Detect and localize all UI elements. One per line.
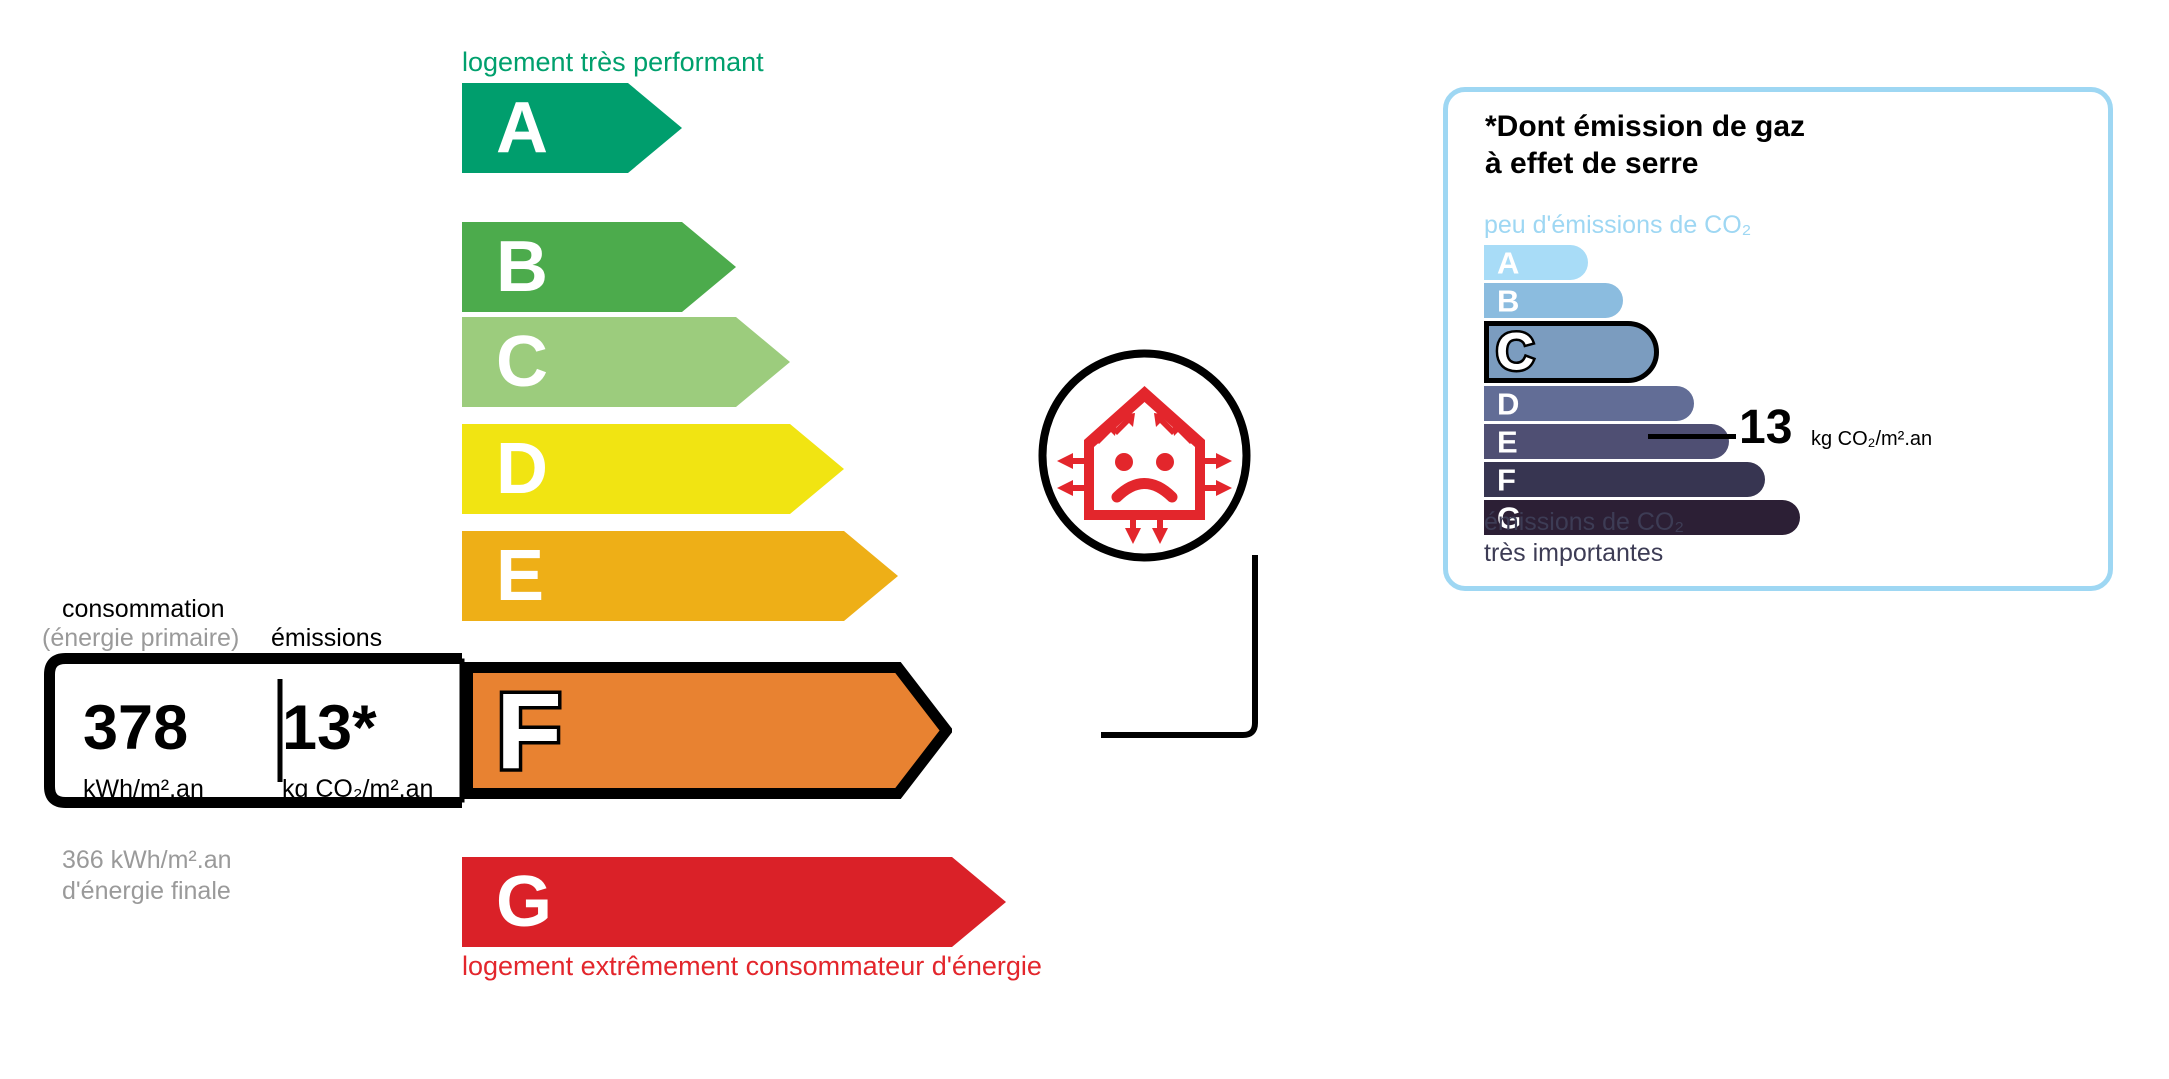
energy-letter-c: C — [496, 326, 548, 398]
co2-letter-d: D — [1497, 388, 1519, 419]
co2-row-d[interactable]: D — [1484, 386, 1694, 421]
energy-top-caption: logement très performant — [462, 47, 764, 78]
final-energy-footer: 366 kWh/m².an d'énergie finale — [62, 845, 232, 906]
energy-row-g[interactable]: G — [462, 857, 1006, 947]
energy-letter-g: G — [496, 866, 552, 938]
emissions-label: émissions — [271, 624, 382, 653]
energy-bottom-caption: logement extrêmement consommateur d'éner… — [462, 951, 1042, 982]
energy-performance-chart: logement très performant A B C D E F G c… — [0, 0, 1300, 1079]
co2-row-c-selected[interactable]: C — [1484, 321, 1659, 383]
co2-letter-c: C — [1496, 326, 1534, 379]
energy-row-e[interactable]: E — [462, 531, 898, 621]
co2-title-line1: *Dont émission de gaz — [1485, 109, 1805, 146]
energy-letter-b: B — [496, 231, 548, 303]
energy-letter-a: A — [496, 92, 548, 164]
co2-bottom-caption: émissions de CO₂ très importantes — [1484, 507, 1684, 568]
energy-row-a[interactable]: A — [462, 83, 682, 173]
sad-house-heat-loss-icon — [1037, 348, 1252, 563]
co2-letter-b: B — [1497, 285, 1519, 316]
co2-letter-a: A — [1497, 247, 1519, 278]
co2-panel-title: *Dont émission de gaz à effet de serre — [1485, 109, 1805, 182]
co2-bar-e — [1484, 424, 1729, 459]
co2-title-line2: à effet de serre — [1485, 146, 1805, 183]
final-energy-line1: 366 kWh/m².an — [62, 845, 232, 876]
energy-row-d[interactable]: D — [462, 424, 844, 514]
energy-row-b[interactable]: B — [462, 222, 736, 312]
consumption-sub-label: (énergie primaire) — [42, 624, 239, 653]
co2-row-b[interactable]: B — [1484, 283, 1623, 318]
co2-value: 13 — [1739, 404, 1792, 452]
co2-unit: kg CO₂/m².an — [1811, 428, 1932, 451]
co2-row-e[interactable]: E — [1484, 424, 1729, 459]
co2-bar-f — [1484, 462, 1765, 497]
energy-letter-f: F — [496, 677, 562, 785]
co2-row-f[interactable]: F — [1484, 462, 1765, 497]
co2-top-caption: peu d'émissions de CO₂ — [1484, 211, 1751, 240]
co2-row-a[interactable]: A — [1484, 245, 1588, 280]
energy-letter-e: E — [496, 540, 544, 612]
co2-letter-e: E — [1497, 426, 1518, 457]
co2-leader-line — [1648, 434, 1736, 439]
badge-connector-line — [1093, 545, 1283, 760]
co2-bottom-line1: émissions de CO₂ — [1484, 507, 1684, 538]
energy-letter-d: D — [496, 433, 548, 505]
energy-row-c[interactable]: C — [462, 317, 790, 407]
co2-bottom-line2: très importantes — [1484, 538, 1684, 569]
co2-emissions-panel: *Dont émission de gaz à effet de serre p… — [1443, 87, 2113, 591]
energy-bar-a — [462, 83, 682, 173]
consumption-label: consommation — [62, 595, 225, 624]
energy-row-f-selected[interactable]: F — [462, 662, 952, 799]
co2-letter-f: F — [1497, 464, 1516, 495]
final-energy-line2: d'énergie finale — [62, 876, 232, 907]
